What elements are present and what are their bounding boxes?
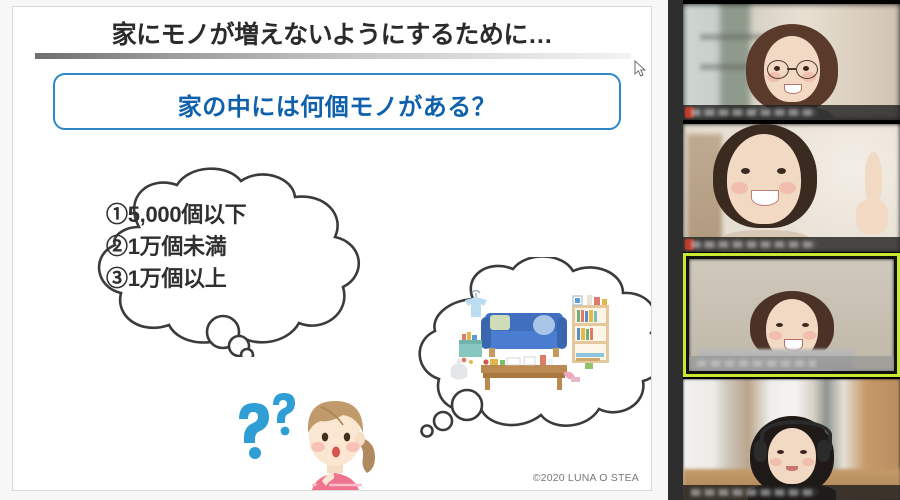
choice-item-1: ①5,000個以下: [106, 199, 346, 231]
video-tile-participant-2[interactable]: [683, 124, 900, 252]
thinking-woman-illustration: [281, 385, 391, 491]
panel-divider[interactable]: [668, 0, 683, 500]
hanging-shirt-icon: [465, 291, 487, 318]
copyright-notice: ©2020 LUNA O STEA: [533, 472, 639, 484]
choice-item-3: ③1万個以上: [106, 263, 346, 295]
mouse-pointer-icon: [634, 60, 648, 78]
video-tile-participant-4[interactable]: [683, 379, 900, 500]
participant-video-person: [705, 124, 825, 252]
participant-name-blurred: [697, 360, 816, 367]
participant-name-blurred: [691, 489, 817, 496]
presentation-slide: 家にモノが増えないようにするために… 家の中には何個モノがある？ ①5,000個: [12, 6, 652, 491]
floor-clutter-icon: [563, 363, 593, 382]
question-text: 家の中には何個モノがある？: [55, 87, 619, 122]
participant-name-blurred: [691, 109, 817, 116]
cluttered-room-illustration: [445, 285, 625, 400]
shared-screen-area[interactable]: 家にモノが増えないようにするために… 家の中には何個モノがある？ ①5,000個: [0, 0, 668, 500]
choice-list: ①5,000個以下 ②1万個未満 ③1万個以上: [106, 199, 346, 295]
title-underline-rule: [35, 53, 631, 59]
coffee-table-icon: [481, 355, 567, 390]
participant-name-bar: [683, 105, 900, 120]
participant-name-bar: [683, 237, 900, 252]
participant-video-filmstrip[interactable]: [683, 0, 900, 500]
video-tile-participant-1[interactable]: [683, 4, 900, 120]
participant-name-blurred: [691, 241, 817, 248]
participant-name-bar: [689, 356, 894, 371]
video-tile-participant-3[interactable]: [683, 253, 900, 377]
choice-item-2: ②1万個未満: [106, 231, 346, 263]
question-box: 家の中には何個モノがある？: [53, 73, 621, 130]
slide-title: 家にモノが増えないようにするために…: [13, 15, 651, 51]
participant-name-bar: [683, 485, 900, 500]
toy-box-icon: [459, 332, 482, 364]
bookshelf-icon: [572, 295, 609, 363]
sofa-icon: [481, 313, 567, 357]
screen-share-meeting-window: 家にモノが増えないようにするために… 家の中には何個モノがある？ ①5,000個: [0, 0, 900, 500]
